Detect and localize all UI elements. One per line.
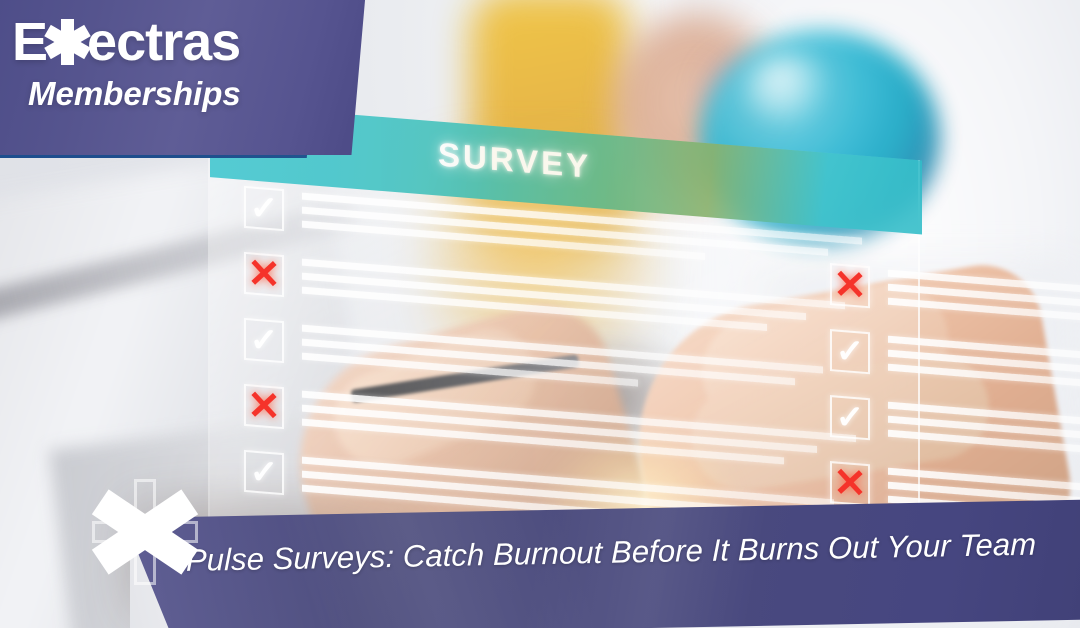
brand-subtitle: Memberships [28, 75, 360, 113]
checkbox-right-4[interactable]: ✕ [830, 461, 870, 506]
title-banner: Pulse Surveys: Catch Burnout Before It B… [130, 499, 1080, 628]
survey-header-label: SURVEY [438, 136, 591, 186]
asterisk-star-icon [45, 19, 89, 65]
asterisk-star-watermark-icon [92, 476, 198, 588]
checkbox-right-3[interactable]: ✓ [830, 395, 870, 440]
brand-wordmark: E ectras [12, 14, 360, 71]
brand-name-prefix: E [12, 14, 47, 71]
check-icon: ✓ [832, 331, 868, 372]
check-icon: ✓ [832, 397, 868, 438]
promo-banner-canvas: SURVEY ✓ ✕ [0, 0, 1080, 628]
brand-lockup: E ectras Memberships [0, 0, 360, 160]
photo-globe-highlight [745, 55, 835, 125]
cross-icon: ✕ [832, 265, 868, 306]
brand-name-suffix: ectras [87, 14, 240, 71]
checkbox-right-1[interactable]: ✕ [830, 263, 870, 308]
cross-icon: ✕ [832, 463, 868, 504]
checkbox-right-2[interactable]: ✓ [830, 329, 870, 374]
